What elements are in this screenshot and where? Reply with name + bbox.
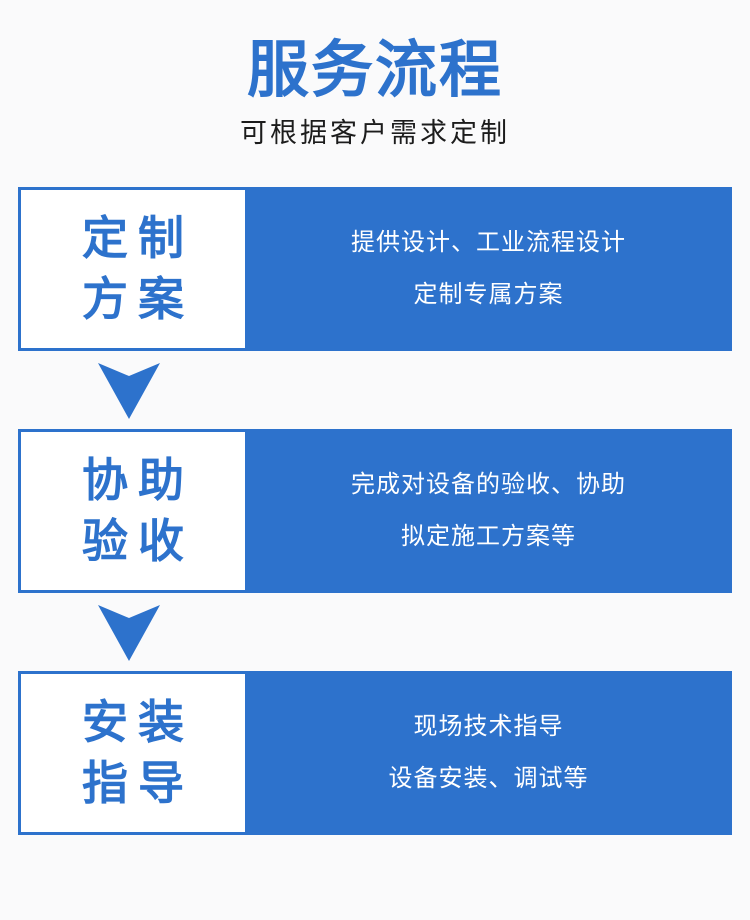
process-step-3: 安装 指导 现场技术指导 设备安装、调试等 — [18, 671, 732, 835]
page-subtitle: 可根据客户需求定制 — [0, 119, 750, 149]
step-2-detail-panel: 完成对设备的验收、协助 拟定施工方案等 — [245, 429, 732, 593]
arrow-down-icon — [98, 605, 160, 661]
step-3-label-box: 安装 指导 — [18, 671, 245, 835]
step-1-label-box: 定制 方案 — [18, 187, 245, 351]
step-3-label-line-1: 安装 — [72, 692, 194, 753]
step-1-detail-panel: 提供设计、工业流程设计 定制专属方案 — [245, 187, 732, 351]
step-3-detail-line-1: 现场技术指导 — [414, 712, 564, 742]
step-2-label-line-1: 协助 — [72, 450, 194, 511]
step-2-label-line-2: 验收 — [72, 511, 194, 572]
step-1-detail-line-1: 提供设计、工业流程设计 — [351, 228, 626, 258]
step-1-label-line-2: 方案 — [72, 269, 194, 330]
process-step-1: 定制 方案 提供设计、工业流程设计 定制专属方案 — [18, 187, 732, 351]
step-2-label-box: 协助 验收 — [18, 429, 245, 593]
service-process-infographic: 服务流程 可根据客户需求定制 定制 方案 提供设计、工业流程设计 定制专属方案 — [0, 0, 750, 920]
header: 服务流程 可根据客户需求定制 — [0, 0, 750, 149]
connector-1 — [18, 351, 732, 429]
step-1-detail-line-2: 定制专属方案 — [414, 280, 564, 310]
process-step-2: 协助 验收 完成对设备的验收、协助 拟定施工方案等 — [18, 429, 732, 593]
page-title: 服务流程 — [0, 38, 750, 103]
step-3-detail-panel: 现场技术指导 设备安装、调试等 — [245, 671, 732, 835]
connector-2 — [18, 593, 732, 671]
step-2-detail-line-2: 拟定施工方案等 — [401, 522, 576, 552]
step-3-detail-line-2: 设备安装、调试等 — [389, 764, 589, 794]
step-1-label-line-1: 定制 — [72, 208, 194, 269]
arrow-down-icon — [98, 363, 160, 419]
process-flow: 定制 方案 提供设计、工业流程设计 定制专属方案 协助 验收 完成对设 — [0, 187, 750, 835]
step-2-detail-line-1: 完成对设备的验收、协助 — [351, 470, 626, 500]
step-3-label-line-2: 指导 — [72, 753, 194, 814]
